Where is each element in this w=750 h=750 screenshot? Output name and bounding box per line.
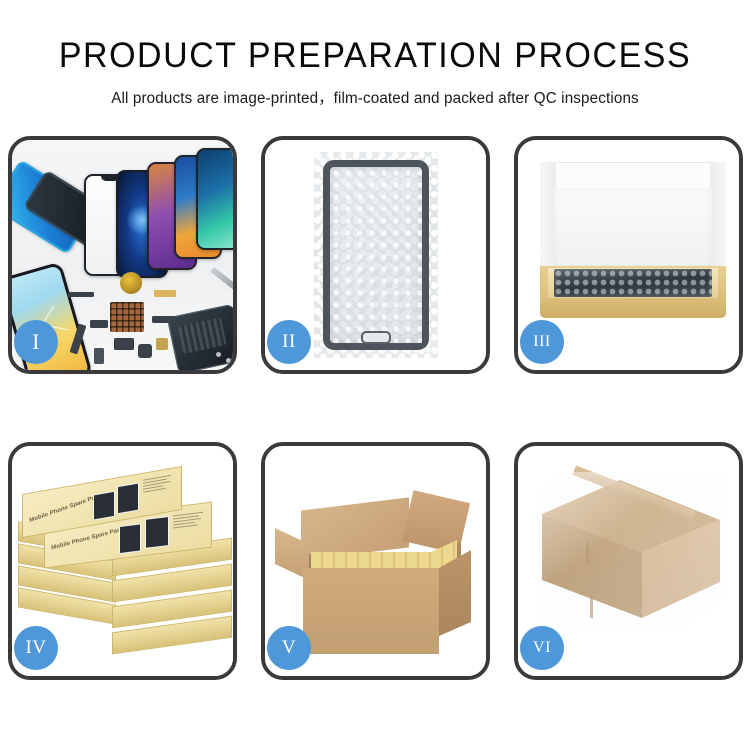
page-subtitle: All products are image-printed，film-coat…: [8, 76, 743, 108]
carton-seam: [586, 542, 589, 564]
box-flap-right: [710, 162, 726, 268]
box-product-image: [117, 482, 139, 514]
small-module-part: [90, 320, 108, 328]
spare-parts-cluster: [68, 272, 233, 370]
header: PRODUCT PREPARATION PROCESS All products…: [0, 0, 750, 108]
panel-step-2: II: [261, 136, 490, 374]
step-badge-3: III: [520, 320, 564, 364]
foam-insert: [554, 188, 712, 268]
carton-flap-top-left: [301, 497, 409, 560]
ic-chip-part-icon: [110, 302, 144, 332]
box-spec-lines: [173, 512, 205, 531]
process-panel-grid: I II: [8, 136, 742, 682]
antenna-cable-part: [152, 316, 176, 323]
box-stack: Mobile Phone Spare Parts Mobile Phone Sp…: [16, 472, 233, 654]
box-label-text: Mobile Phone Spare Parts: [29, 493, 103, 524]
bubble-texture-overlay: [554, 269, 712, 297]
packed-phone-screen: [554, 269, 712, 297]
screw-part: [216, 352, 221, 357]
panel-step-6: VI: [514, 442, 743, 680]
sim-tray-part: [94, 348, 104, 364]
step-badge-1: I: [14, 320, 58, 364]
phone-backplate-part: [167, 304, 233, 370]
bubble-texture-overlay: [330, 167, 422, 343]
tweezer-tool-icon: [210, 267, 233, 295]
panel-step-5: V: [261, 442, 490, 680]
gold-contact-part: [156, 338, 168, 350]
product-preparation-infographic: PRODUCT PREPARATION PROCESS All products…: [0, 0, 750, 750]
step-badge-5: V: [267, 626, 311, 670]
carton-seam: [590, 598, 593, 618]
step-badge-2: II: [267, 320, 311, 364]
camera-module-part: [114, 338, 134, 350]
panel-step-3: III: [514, 136, 743, 374]
page-title: PRODUCT PREPARATION PROCESS: [11, 0, 739, 76]
ribbon-cable-part: [70, 323, 87, 354]
box-product-image: [119, 523, 141, 554]
phone-screen-green: [196, 148, 233, 250]
box-product-image: [93, 491, 115, 521]
panel-step-1: I: [8, 136, 237, 374]
wrapped-phone-screen: [323, 160, 429, 350]
carton-front-face: [303, 568, 439, 654]
step-badge-4: IV: [14, 626, 58, 670]
screw-part: [226, 358, 231, 363]
flex-cable-part: [68, 292, 94, 297]
speaker-part-icon: [120, 272, 142, 294]
box-spec-lines: [143, 474, 175, 495]
step-badge-6: VI: [520, 626, 564, 670]
panel-step-4: Mobile Phone Spare Parts Mobile Phone Sp…: [8, 442, 237, 680]
box-product-image: [145, 516, 169, 549]
vibrator-part: [138, 344, 152, 358]
connector-part: [154, 290, 176, 297]
